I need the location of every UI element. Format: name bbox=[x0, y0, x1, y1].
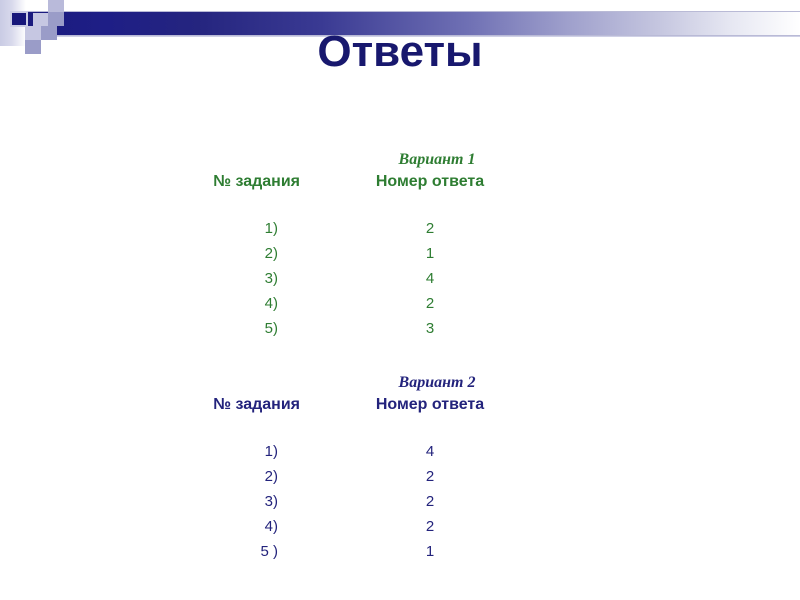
decor-square-dark bbox=[10, 11, 28, 27]
cell-task: 3) bbox=[0, 489, 300, 514]
table-row: 1) 2 bbox=[0, 216, 800, 241]
cell-answer: 2 bbox=[300, 216, 560, 241]
table-row: 5 ) 1 bbox=[0, 539, 800, 564]
cell-task: 4) bbox=[0, 514, 300, 539]
decor-square-light-left bbox=[33, 13, 48, 26]
table-row: 3) 2 bbox=[0, 489, 800, 514]
cell-task: 2) bbox=[0, 241, 300, 266]
cell-task: 5) bbox=[0, 316, 300, 341]
column-header-task: № задания bbox=[0, 393, 300, 417]
cell-task: 1) bbox=[0, 439, 300, 464]
cell-answer: 1 bbox=[300, 241, 560, 266]
table-row: 4) 2 bbox=[0, 291, 800, 316]
table-row: 5) 3 bbox=[0, 316, 800, 341]
table-row: 2) 2 bbox=[0, 464, 800, 489]
variant-block-2: Вариант 2 № задания Номер ответа 1) 4 2)… bbox=[0, 373, 800, 564]
cell-answer: 3 bbox=[300, 316, 560, 341]
table-row: 3) 4 bbox=[0, 266, 800, 291]
variant-caption: Вариант 1 bbox=[0, 150, 800, 170]
cell-task: 4) bbox=[0, 291, 300, 316]
cell-answer: 4 bbox=[300, 439, 560, 464]
cell-answer: 2 bbox=[300, 291, 560, 316]
variant-rows: 1) 4 2) 2 3) 2 4) 2 5 ) 1 bbox=[0, 439, 800, 564]
decor-square-mid-top bbox=[48, 12, 64, 26]
slide: Ответы Вариант 1 № задания Номер ответа … bbox=[0, 0, 800, 600]
cell-answer: 1 bbox=[300, 539, 560, 564]
variant-header-row: № задания Номер ответа bbox=[0, 170, 800, 194]
cell-answer: 2 bbox=[300, 514, 560, 539]
cell-answer: 2 bbox=[300, 464, 560, 489]
cell-task: 2) bbox=[0, 464, 300, 489]
cell-answer: 4 bbox=[300, 266, 560, 291]
table-row: 4) 2 bbox=[0, 514, 800, 539]
column-header-answer: Номер ответа bbox=[300, 170, 560, 194]
column-header-task: № задания bbox=[0, 170, 300, 194]
variant-rows: 1) 2 2) 1 3) 4 4) 2 5) 3 bbox=[0, 216, 800, 341]
variant-caption: Вариант 2 bbox=[0, 373, 800, 393]
cell-task: 1) bbox=[0, 216, 300, 241]
table-row: 2) 1 bbox=[0, 241, 800, 266]
block-spacer bbox=[0, 341, 800, 373]
column-header-answer: Номер ответа bbox=[300, 393, 560, 417]
variant-block-1: Вариант 1 № задания Номер ответа 1) 2 2)… bbox=[0, 150, 800, 341]
cell-task: 3) bbox=[0, 266, 300, 291]
page-title: Ответы bbox=[0, 30, 800, 74]
cell-task: 5 ) bbox=[0, 539, 300, 564]
cell-answer: 2 bbox=[300, 489, 560, 514]
decor-square-light-top bbox=[48, 0, 64, 13]
table-row: 1) 4 bbox=[0, 439, 800, 464]
variant-header-row: № задания Номер ответа bbox=[0, 393, 800, 417]
answers-area: Вариант 1 № задания Номер ответа 1) 2 2)… bbox=[0, 150, 800, 564]
